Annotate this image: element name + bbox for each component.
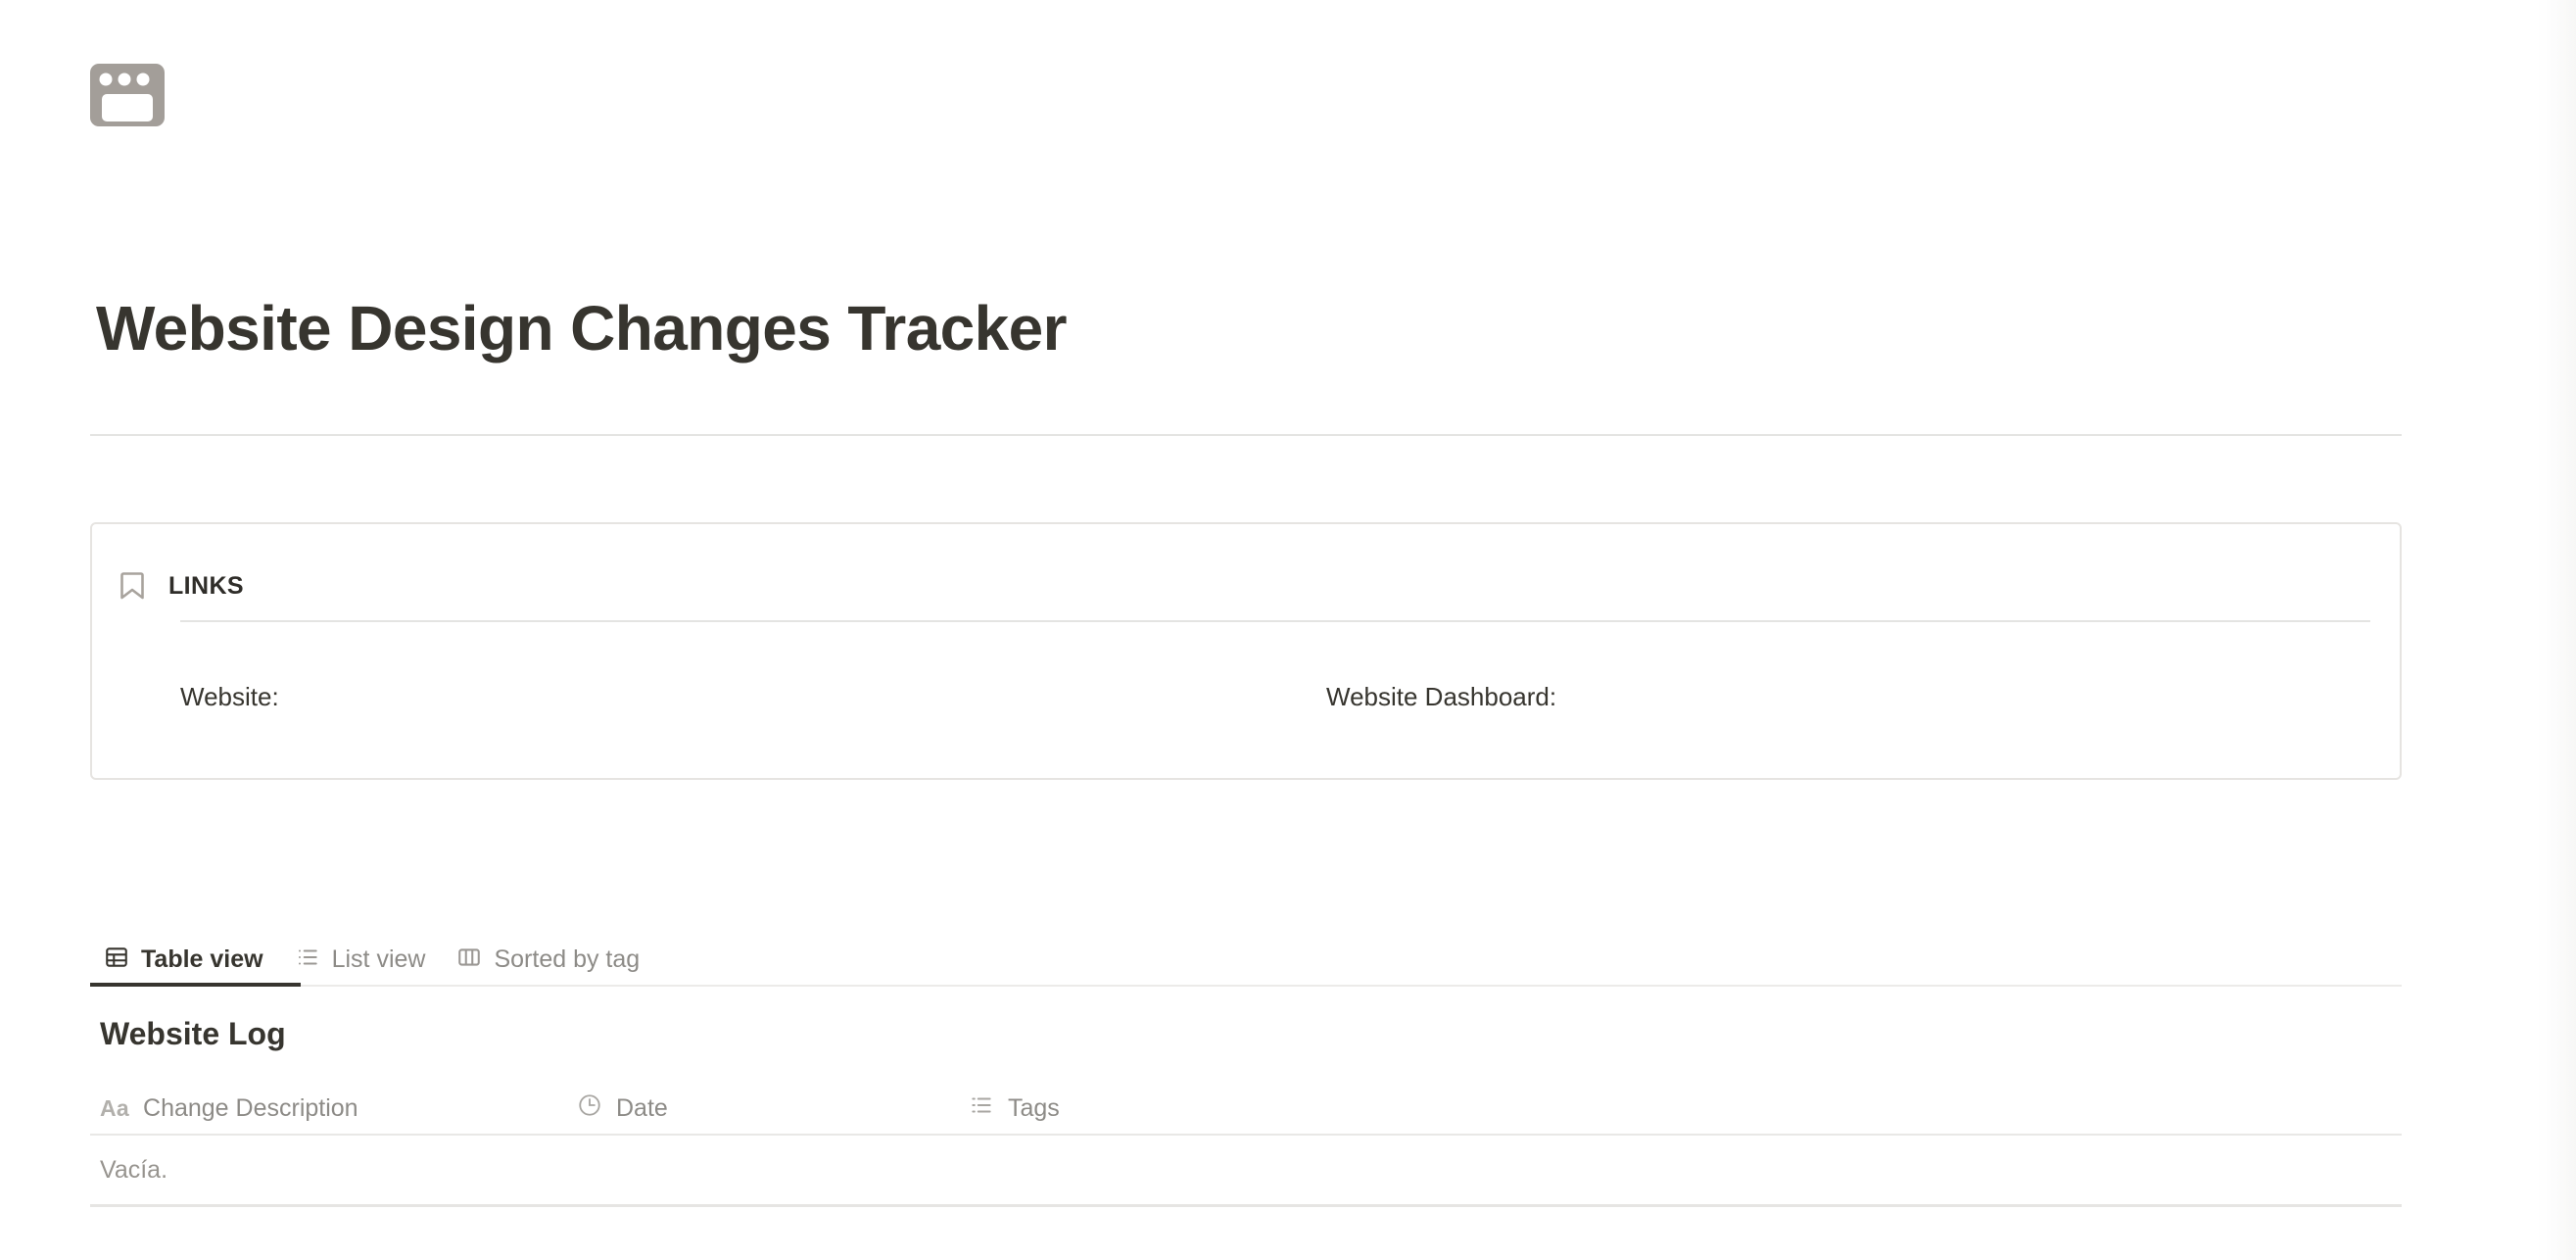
title-divider xyxy=(90,434,2402,436)
links-column-website-dashboard: Website Dashboard: xyxy=(1326,681,2364,714)
tab-table-view[interactable]: Table view xyxy=(90,934,281,985)
table-header-row: Aa Change Description Date xyxy=(90,1083,2402,1134)
scrollbar-track[interactable] xyxy=(2537,0,2576,1260)
table-empty-state-row[interactable]: Vacía. xyxy=(90,1136,2402,1204)
notion-page: Website Design Changes Tracker LINKS Web… xyxy=(0,0,2576,1260)
table-bottom-divider xyxy=(90,1204,2402,1207)
table-empty-state-text: Vacía. xyxy=(90,1156,167,1185)
list-icon xyxy=(295,945,320,975)
links-card-header: LINKS xyxy=(119,571,244,601)
page-title[interactable]: Website Design Changes Tracker xyxy=(96,296,1067,362)
tab-list-view[interactable]: List view xyxy=(281,934,444,985)
board-columns-icon xyxy=(456,945,482,975)
multi-select-list-icon xyxy=(969,1092,994,1125)
website-dashboard-label[interactable]: Website Dashboard: xyxy=(1326,682,1556,711)
database-title[interactable]: Website Log xyxy=(100,1016,286,1052)
links-column-website: Website: xyxy=(180,681,1326,714)
tab-active-indicator xyxy=(90,983,301,987)
column-header-date-label: Date xyxy=(616,1094,668,1123)
column-header-date[interactable]: Date xyxy=(577,1092,969,1125)
links-row: Website: Website Dashboard: xyxy=(180,681,2370,714)
database-view-tabs: Table view List view xyxy=(90,934,2402,989)
bookmark-icon xyxy=(119,571,145,601)
tab-sorted-by-tag-label: Sorted by tag xyxy=(494,945,640,974)
clock-icon xyxy=(577,1092,602,1125)
table-grid-icon xyxy=(104,945,129,975)
tab-table-view-label: Table view xyxy=(141,945,263,974)
browser-window-icon[interactable] xyxy=(90,64,165,126)
column-header-change-description-label: Change Description xyxy=(143,1094,358,1123)
tabs-baseline xyxy=(90,985,2402,987)
text-aa-icon: Aa xyxy=(100,1095,129,1122)
website-label[interactable]: Website: xyxy=(180,682,279,711)
column-header-tags[interactable]: Tags xyxy=(969,1092,1360,1125)
column-header-tags-label: Tags xyxy=(1008,1094,1060,1123)
links-heading-underline xyxy=(180,620,2370,622)
column-header-change-description[interactable]: Aa Change Description xyxy=(90,1094,577,1123)
tab-sorted-by-tag[interactable]: Sorted by tag xyxy=(443,934,657,985)
links-card: LINKS Website: Website Dashboard: xyxy=(90,522,2402,780)
links-heading: LINKS xyxy=(168,572,244,601)
tab-list-view-label: List view xyxy=(332,945,426,974)
